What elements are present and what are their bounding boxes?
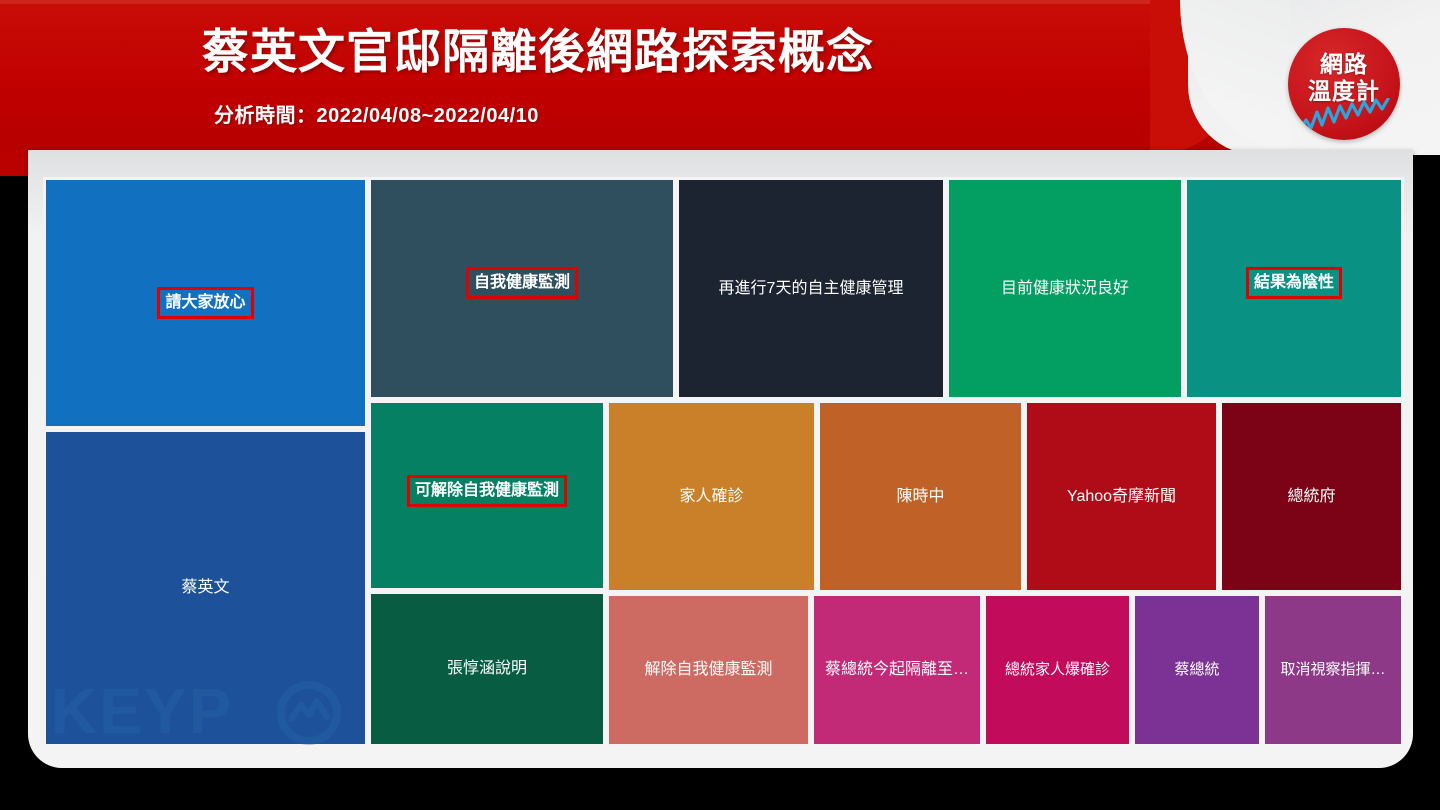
treemap-tile[interactable]: 請大家放心 bbox=[43, 177, 368, 429]
treemap-tile-label: Yahoo奇摩新聞 bbox=[1063, 487, 1180, 506]
treemap-tile-label: 取消視察指揮… bbox=[1276, 661, 1389, 679]
treemap-tile-label: 蔡總統 bbox=[1170, 661, 1223, 679]
treemap-tile[interactable]: 再進行7天的自主健康管理 bbox=[676, 177, 946, 400]
treemap-tile[interactable]: 蔡總統今起隔離至… bbox=[811, 593, 983, 747]
treemap-tile[interactable]: 可解除自我健康監測 bbox=[368, 400, 606, 591]
page-title: 蔡英文官邸隔離後網路探索概念 bbox=[202, 26, 874, 79]
treemap-tile[interactable]: 取消視察指揮… bbox=[1262, 593, 1404, 747]
treemap-tile-label: 蔡英文 bbox=[177, 578, 233, 597]
treemap-tile[interactable]: 自我健康監測 bbox=[368, 177, 676, 400]
treemap-tile[interactable]: 張惇涵說明 bbox=[368, 591, 606, 747]
treemap-tile-label: 蔡總統今起隔離至… bbox=[821, 660, 973, 679]
logo-sparkline-icon bbox=[1288, 98, 1400, 136]
treemap-tile-label: 再進行7天的自主健康管理 bbox=[715, 279, 908, 298]
treemap-tile-label: 可解除自我健康監測 bbox=[407, 475, 567, 507]
treemap-tile-label: 請大家放心 bbox=[157, 287, 253, 319]
screenshot-root: 蔡英文官邸隔離後網路探索概念 分析時間：2022/04/08~2022/04/1… bbox=[0, 0, 1440, 810]
treemap-tile-label: 自我健康監測 bbox=[466, 267, 578, 299]
treemap-tile[interactable]: 蔡英文 bbox=[43, 429, 368, 747]
treemap-tile[interactable]: Yahoo奇摩新聞 bbox=[1024, 400, 1219, 593]
treemap-tile[interactable]: 結果為陰性 bbox=[1184, 177, 1404, 400]
network-thermometer-logo-icon[interactable]: 網路 溫度計 bbox=[1288, 28, 1400, 140]
analysis-period-label: 分析時間：2022/04/08~2022/04/10 bbox=[214, 99, 539, 128]
treemap-tile-label: 家人確診 bbox=[675, 487, 747, 506]
treemap-tile-label: 總統府 bbox=[1283, 487, 1339, 506]
treemap-tile-label: 總統家人爆確診 bbox=[1001, 661, 1114, 679]
treemap-tile-label: 目前健康狀況良好 bbox=[997, 279, 1133, 298]
treemap-tile-label: 陳時中 bbox=[892, 487, 948, 506]
treemap-tile[interactable]: 家人確診 bbox=[606, 400, 817, 593]
treemap-tile[interactable]: 蔡總統 bbox=[1132, 593, 1262, 747]
treemap-tile-label: 結果為陰性 bbox=[1246, 267, 1342, 299]
treemap-tile[interactable]: 陳時中 bbox=[817, 400, 1024, 593]
treemap-tile-label: 張惇涵說明 bbox=[443, 659, 531, 678]
treemap-chart: KEYP 請大家放心蔡英文自我健康監測可解除自我健康監測張惇涵說明再進行7天的自… bbox=[43, 177, 1404, 747]
treemap-tile[interactable]: 目前健康狀況良好 bbox=[946, 177, 1184, 400]
treemap-tile[interactable]: 總統家人爆確診 bbox=[983, 593, 1132, 747]
treemap-tile[interactable]: 解除自我健康監測 bbox=[606, 593, 811, 747]
treemap-tile[interactable]: 總統府 bbox=[1219, 400, 1404, 593]
treemap-tile-label: 解除自我健康監測 bbox=[640, 660, 776, 679]
